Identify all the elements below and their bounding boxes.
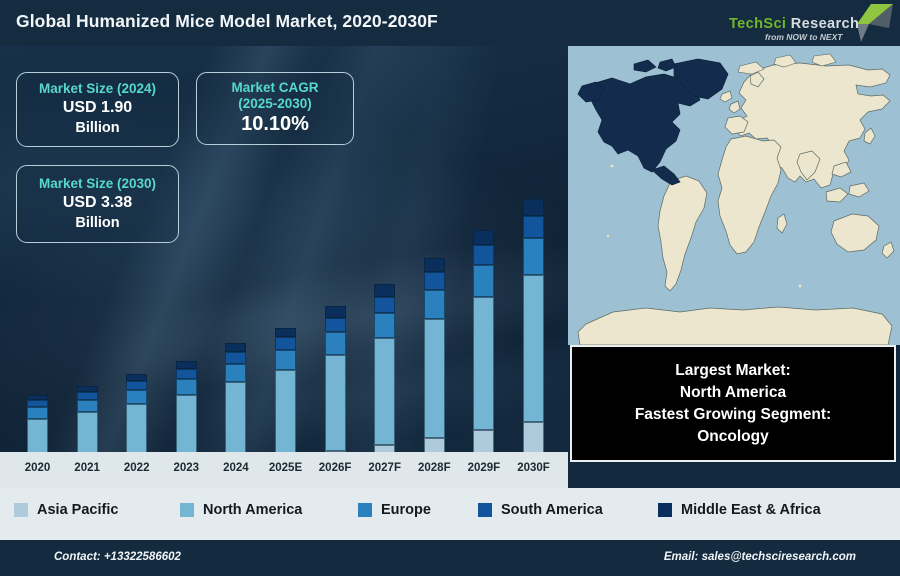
bar-segment-south-america bbox=[27, 400, 48, 407]
bar-segment-north-america bbox=[275, 370, 296, 457]
bar-segment-south-america bbox=[225, 352, 246, 363]
bar-segment-middle-east-africa bbox=[523, 199, 544, 216]
bar-segment-middle-east-africa bbox=[424, 258, 445, 272]
legend-item-south-america[interactable]: South America bbox=[478, 502, 603, 518]
infographic-root: Global Humanized Mice Model Market, 2020… bbox=[0, 0, 900, 576]
bar-segment-europe bbox=[374, 313, 395, 339]
bar-segment-south-america bbox=[523, 216, 544, 238]
logo-techsci: TechSci bbox=[729, 16, 786, 32]
bar-segment-europe bbox=[275, 350, 296, 370]
stat-label: Market Size (2030) bbox=[17, 176, 178, 193]
bar-segment-europe bbox=[77, 400, 98, 412]
bar-segment-europe bbox=[424, 290, 445, 319]
bar-segment-middle-east-africa bbox=[225, 343, 246, 352]
x-axis-tick: 2025E bbox=[260, 462, 312, 474]
bar-segment-middle-east-africa bbox=[473, 230, 494, 246]
world-map bbox=[568, 46, 900, 345]
footer-email: Email: sales@techsciresearch.com bbox=[664, 551, 856, 563]
bar-segment-south-america bbox=[275, 337, 296, 349]
largest-market-label: Largest Market: bbox=[675, 360, 790, 382]
x-axis-tick: 2021 bbox=[61, 462, 113, 474]
legend-swatch-icon bbox=[14, 503, 28, 517]
x-axis-tick: 2020 bbox=[12, 462, 64, 474]
bar-segment-europe bbox=[523, 238, 544, 275]
x-axis-tick: 2030F bbox=[508, 462, 560, 474]
bar-segment-south-america bbox=[473, 245, 494, 264]
bar-segment-south-america bbox=[374, 297, 395, 313]
bar-segment-south-america bbox=[77, 392, 98, 400]
legend-swatch-icon bbox=[478, 503, 492, 517]
legend-item-europe[interactable]: Europe bbox=[358, 502, 431, 518]
stat-value: USD 1.90 bbox=[17, 98, 178, 119]
world-map-svg bbox=[568, 46, 900, 345]
bar-segment-south-america bbox=[126, 381, 147, 390]
stacked-bar-chart bbox=[0, 92, 568, 488]
stat-label-line2: (2025-2030) bbox=[197, 96, 353, 112]
stat-label-line1: Market CAGR bbox=[197, 80, 353, 96]
legend-swatch-icon bbox=[358, 503, 372, 517]
largest-market-value: North America bbox=[680, 382, 786, 404]
footer-bar: Contact: +13322586602 Email: sales@techs… bbox=[0, 540, 900, 576]
bar-segment-south-america bbox=[176, 369, 197, 379]
chart-panel: Market Size (2024) USD 1.90 Billion Mark… bbox=[0, 46, 568, 488]
bar-segment-europe bbox=[27, 407, 48, 418]
key-insights-callout: Largest Market: North America Fastest Gr… bbox=[570, 345, 896, 462]
legend-item-middle-east-africa[interactable]: Middle East & Africa bbox=[658, 502, 821, 518]
page-title: Global Humanized Mice Model Market, 2020… bbox=[16, 11, 438, 32]
stat-card-market-size-2030: Market Size (2030) USD 3.38 Billion bbox=[16, 165, 179, 243]
x-axis-tick: 2023 bbox=[160, 462, 212, 474]
stat-value: 10.10% bbox=[197, 112, 353, 137]
bar-segment-europe bbox=[126, 390, 147, 404]
bar-segment-north-america bbox=[523, 275, 544, 422]
bar-segment-middle-east-africa bbox=[374, 284, 395, 296]
bar-segment-middle-east-africa bbox=[275, 328, 296, 338]
stat-value: USD 3.38 bbox=[17, 193, 178, 214]
bar-segment-europe bbox=[473, 265, 494, 298]
bar-segment-middle-east-africa bbox=[325, 306, 346, 317]
chart-legend: Asia PacificNorth AmericaEuropeSouth Ame… bbox=[0, 488, 900, 540]
legend-item-asia-pacific[interactable]: Asia Pacific bbox=[14, 502, 118, 518]
techsci-research-logo: TechSci Research from NOW to NEXT bbox=[721, 2, 896, 44]
header-bar: Global Humanized Mice Model Market, 2020… bbox=[0, 0, 900, 46]
legend-item-north-america[interactable]: North America bbox=[180, 502, 302, 518]
bar-segment-middle-east-africa bbox=[176, 361, 197, 369]
x-axis-tick: 2026F bbox=[309, 462, 361, 474]
footer-contact: Contact: +13322586602 bbox=[54, 551, 181, 563]
stat-card-market-size-2024: Market Size (2024) USD 1.90 Billion bbox=[16, 72, 179, 147]
bar-segment-north-america bbox=[424, 319, 445, 438]
logo-research: Research bbox=[786, 16, 859, 32]
x-axis-tick: 2024 bbox=[210, 462, 262, 474]
bar-segment-south-america bbox=[325, 318, 346, 332]
bar-2029F bbox=[473, 230, 494, 489]
bar-segment-south-america bbox=[424, 272, 445, 290]
stat-card-market-cagr: Market CAGR (2025-2030) 10.10% bbox=[196, 72, 354, 145]
x-axis-tick: 2027F bbox=[359, 462, 411, 474]
bar-segment-north-america bbox=[374, 338, 395, 445]
bar-segment-north-america bbox=[225, 382, 246, 461]
x-axis-labels: 202020212022202320242025E2026F2027F2028F… bbox=[0, 452, 568, 488]
legend-swatch-icon bbox=[658, 503, 672, 517]
logo-wordmark: TechSci Research bbox=[729, 16, 859, 32]
bar-segment-north-america bbox=[473, 297, 494, 430]
legend-label: Asia Pacific bbox=[37, 502, 118, 518]
bar-segment-north-america bbox=[325, 355, 346, 451]
bar-2030F bbox=[523, 199, 544, 488]
bar-segment-europe bbox=[176, 379, 197, 395]
legend-swatch-icon bbox=[180, 503, 194, 517]
bar-segment-europe bbox=[325, 332, 346, 355]
legend-label: South America bbox=[501, 502, 603, 518]
stat-label: Market Size (2024) bbox=[17, 81, 178, 98]
legend-label: Europe bbox=[381, 502, 431, 518]
logo-tagline: from NOW to NEXT bbox=[765, 32, 842, 42]
stat-unit: Billion bbox=[17, 119, 178, 138]
bar-segment-middle-east-africa bbox=[126, 374, 147, 381]
x-axis-tick: 2028F bbox=[408, 462, 460, 474]
fastest-segment-value: Oncology bbox=[697, 426, 768, 448]
x-axis-tick: 2022 bbox=[111, 462, 163, 474]
stat-unit: Billion bbox=[17, 214, 178, 233]
legend-label: North America bbox=[203, 502, 302, 518]
bar-segment-europe bbox=[225, 364, 246, 383]
fastest-segment-label: Fastest Growing Segment: bbox=[635, 404, 831, 426]
legend-label: Middle East & Africa bbox=[681, 502, 821, 518]
x-axis-tick: 2029F bbox=[458, 462, 510, 474]
